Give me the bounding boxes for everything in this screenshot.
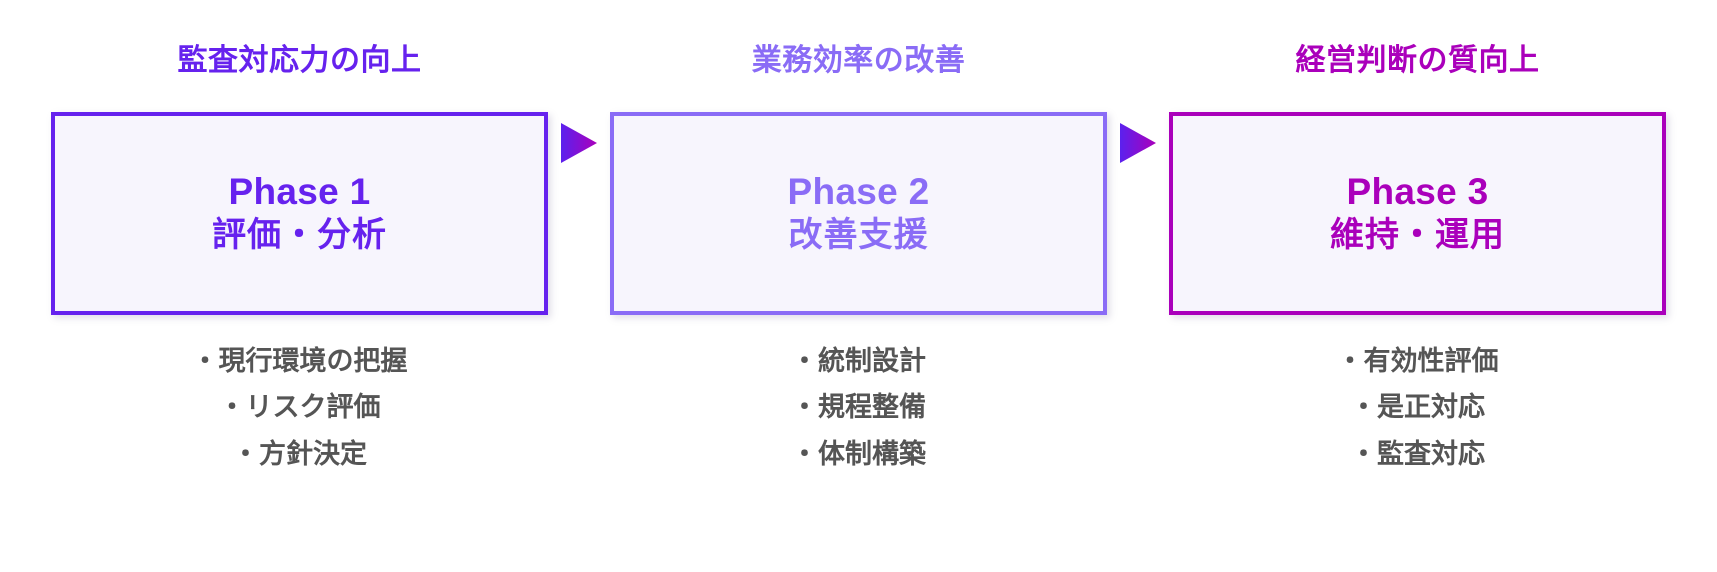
phase-2-subtitle: 改善支援: [789, 218, 929, 254]
phase-2-heading: 業務効率の改善: [752, 46, 966, 76]
phase-2-label: Phase 2: [788, 173, 930, 212]
arrow-2-to-3: [1107, 0, 1169, 285]
list-item: ・規程整備: [610, 384, 1107, 430]
phase-flow-diagram: 監査対応力の向上 Phase 1 評価・分析 ・現行環境の把握 ・リスク評価 ・…: [0, 0, 1717, 572]
phase-column-2: 業務効率の改善 Phase 2 改善支援 ・統制設計 ・規程整備 ・体制構築: [610, 0, 1107, 493]
phase-3-heading: 経営判断の質向上: [1296, 46, 1540, 76]
arrow-1-to-2: [548, 0, 610, 285]
list-item: ・有効性評価: [1169, 338, 1666, 384]
list-item: ・体制構築: [610, 431, 1107, 477]
phase-1-subtitle: 評価・分析: [212, 218, 387, 254]
list-item: ・統制設計: [610, 338, 1107, 384]
phase-1-bullet-list: ・現行環境の把握 ・リスク評価 ・方針決定: [51, 338, 548, 477]
phase-3-subtitle: 維持・運用: [1330, 218, 1505, 254]
phase-1-label: Phase 1: [229, 173, 371, 212]
triangle-right-icon: [1118, 121, 1158, 165]
phase-2-box: Phase 2 改善支援: [610, 112, 1107, 315]
phase-2-bullet-list: ・統制設計 ・規程整備 ・体制構築: [610, 338, 1107, 477]
list-item: ・方針決定: [51, 431, 548, 477]
phase-column-3: 経営判断の質向上 Phase 3 維持・運用 ・有効性評価 ・是正対応 ・監査対…: [1169, 0, 1666, 493]
list-item: ・リスク評価: [51, 384, 548, 430]
phase-1-heading: 監査対応力の向上: [178, 46, 422, 76]
phase-column-1: 監査対応力の向上 Phase 1 評価・分析 ・現行環境の把握 ・リスク評価 ・…: [51, 0, 548, 493]
phase-3-bullet-list: ・有効性評価 ・是正対応 ・監査対応: [1169, 338, 1666, 477]
list-item: ・現行環境の把握: [51, 338, 548, 384]
phase-3-label: Phase 3: [1347, 173, 1489, 212]
list-item: ・是正対応: [1169, 384, 1666, 430]
list-item: ・監査対応: [1169, 431, 1666, 477]
triangle-right-icon: [559, 121, 599, 165]
phase-3-box: Phase 3 維持・運用: [1169, 112, 1666, 315]
phase-1-box: Phase 1 評価・分析: [51, 112, 548, 315]
